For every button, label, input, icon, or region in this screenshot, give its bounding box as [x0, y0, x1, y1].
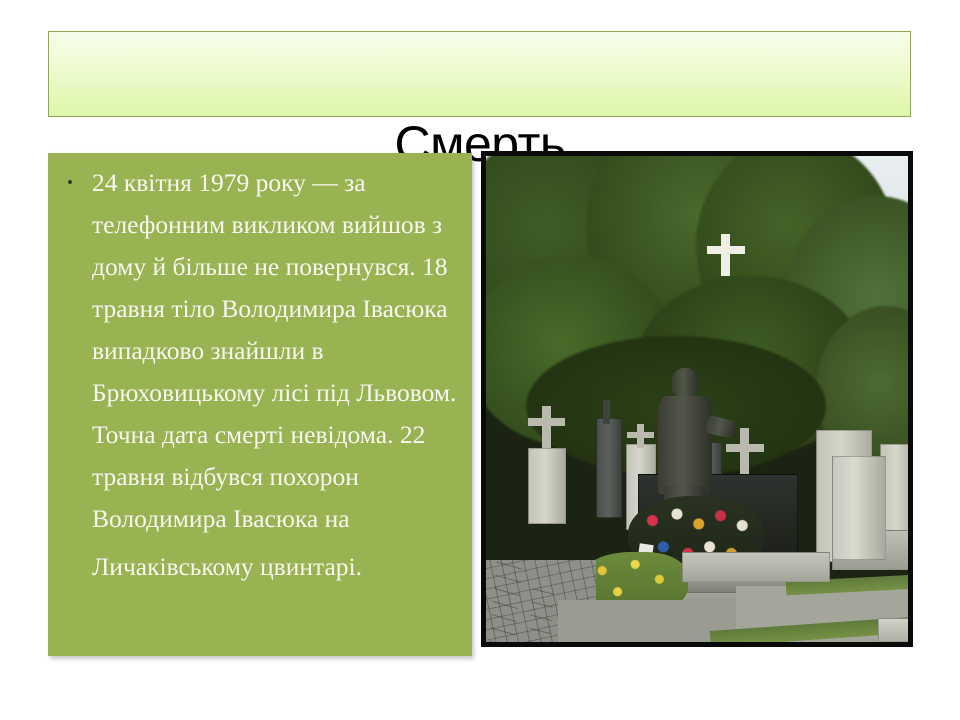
bullet-text-block: 24 квітня 1979 року — за телефонним викл…: [92, 162, 472, 588]
photo-grave-slab: [878, 618, 908, 642]
photo-gravestone: [528, 448, 566, 524]
photo-bronze-statue-body: [658, 396, 712, 494]
photo-grave-slab: [682, 552, 830, 582]
bullet-text-main: 24 квітня 1979 року — за телефонним викл…: [92, 168, 456, 533]
cemetery-photo: [481, 151, 913, 647]
photo-bronze-statue-head: [672, 368, 698, 398]
photo-grave-cross: [603, 400, 610, 424]
bullet-list-item: • 24 квітня 1979 року — за телефонним ви…: [48, 162, 472, 588]
photo-grave-cross: [627, 432, 654, 438]
slide: Смерть • 24 квітня 1979 року — за телефо…: [0, 0, 960, 720]
photo-gravestone: [596, 418, 622, 518]
photo-tall-headstone: [832, 456, 886, 560]
header-band: [48, 31, 911, 117]
photo-white-cross: [707, 246, 745, 254]
photo-white-cross: [721, 234, 730, 276]
content-text-box: • 24 квітня 1979 року — за телефонним ви…: [48, 153, 472, 656]
photo-grave-cross: [726, 444, 764, 452]
photo-content: [486, 156, 908, 642]
photo-brick-kerb: [528, 585, 555, 642]
bullet-point-icon: •: [48, 162, 92, 204]
photo-grave-cross: [528, 418, 565, 426]
bullet-text-tail: Личаківському цвинтарі.: [92, 546, 460, 588]
photo-grave-cross: [542, 406, 551, 450]
